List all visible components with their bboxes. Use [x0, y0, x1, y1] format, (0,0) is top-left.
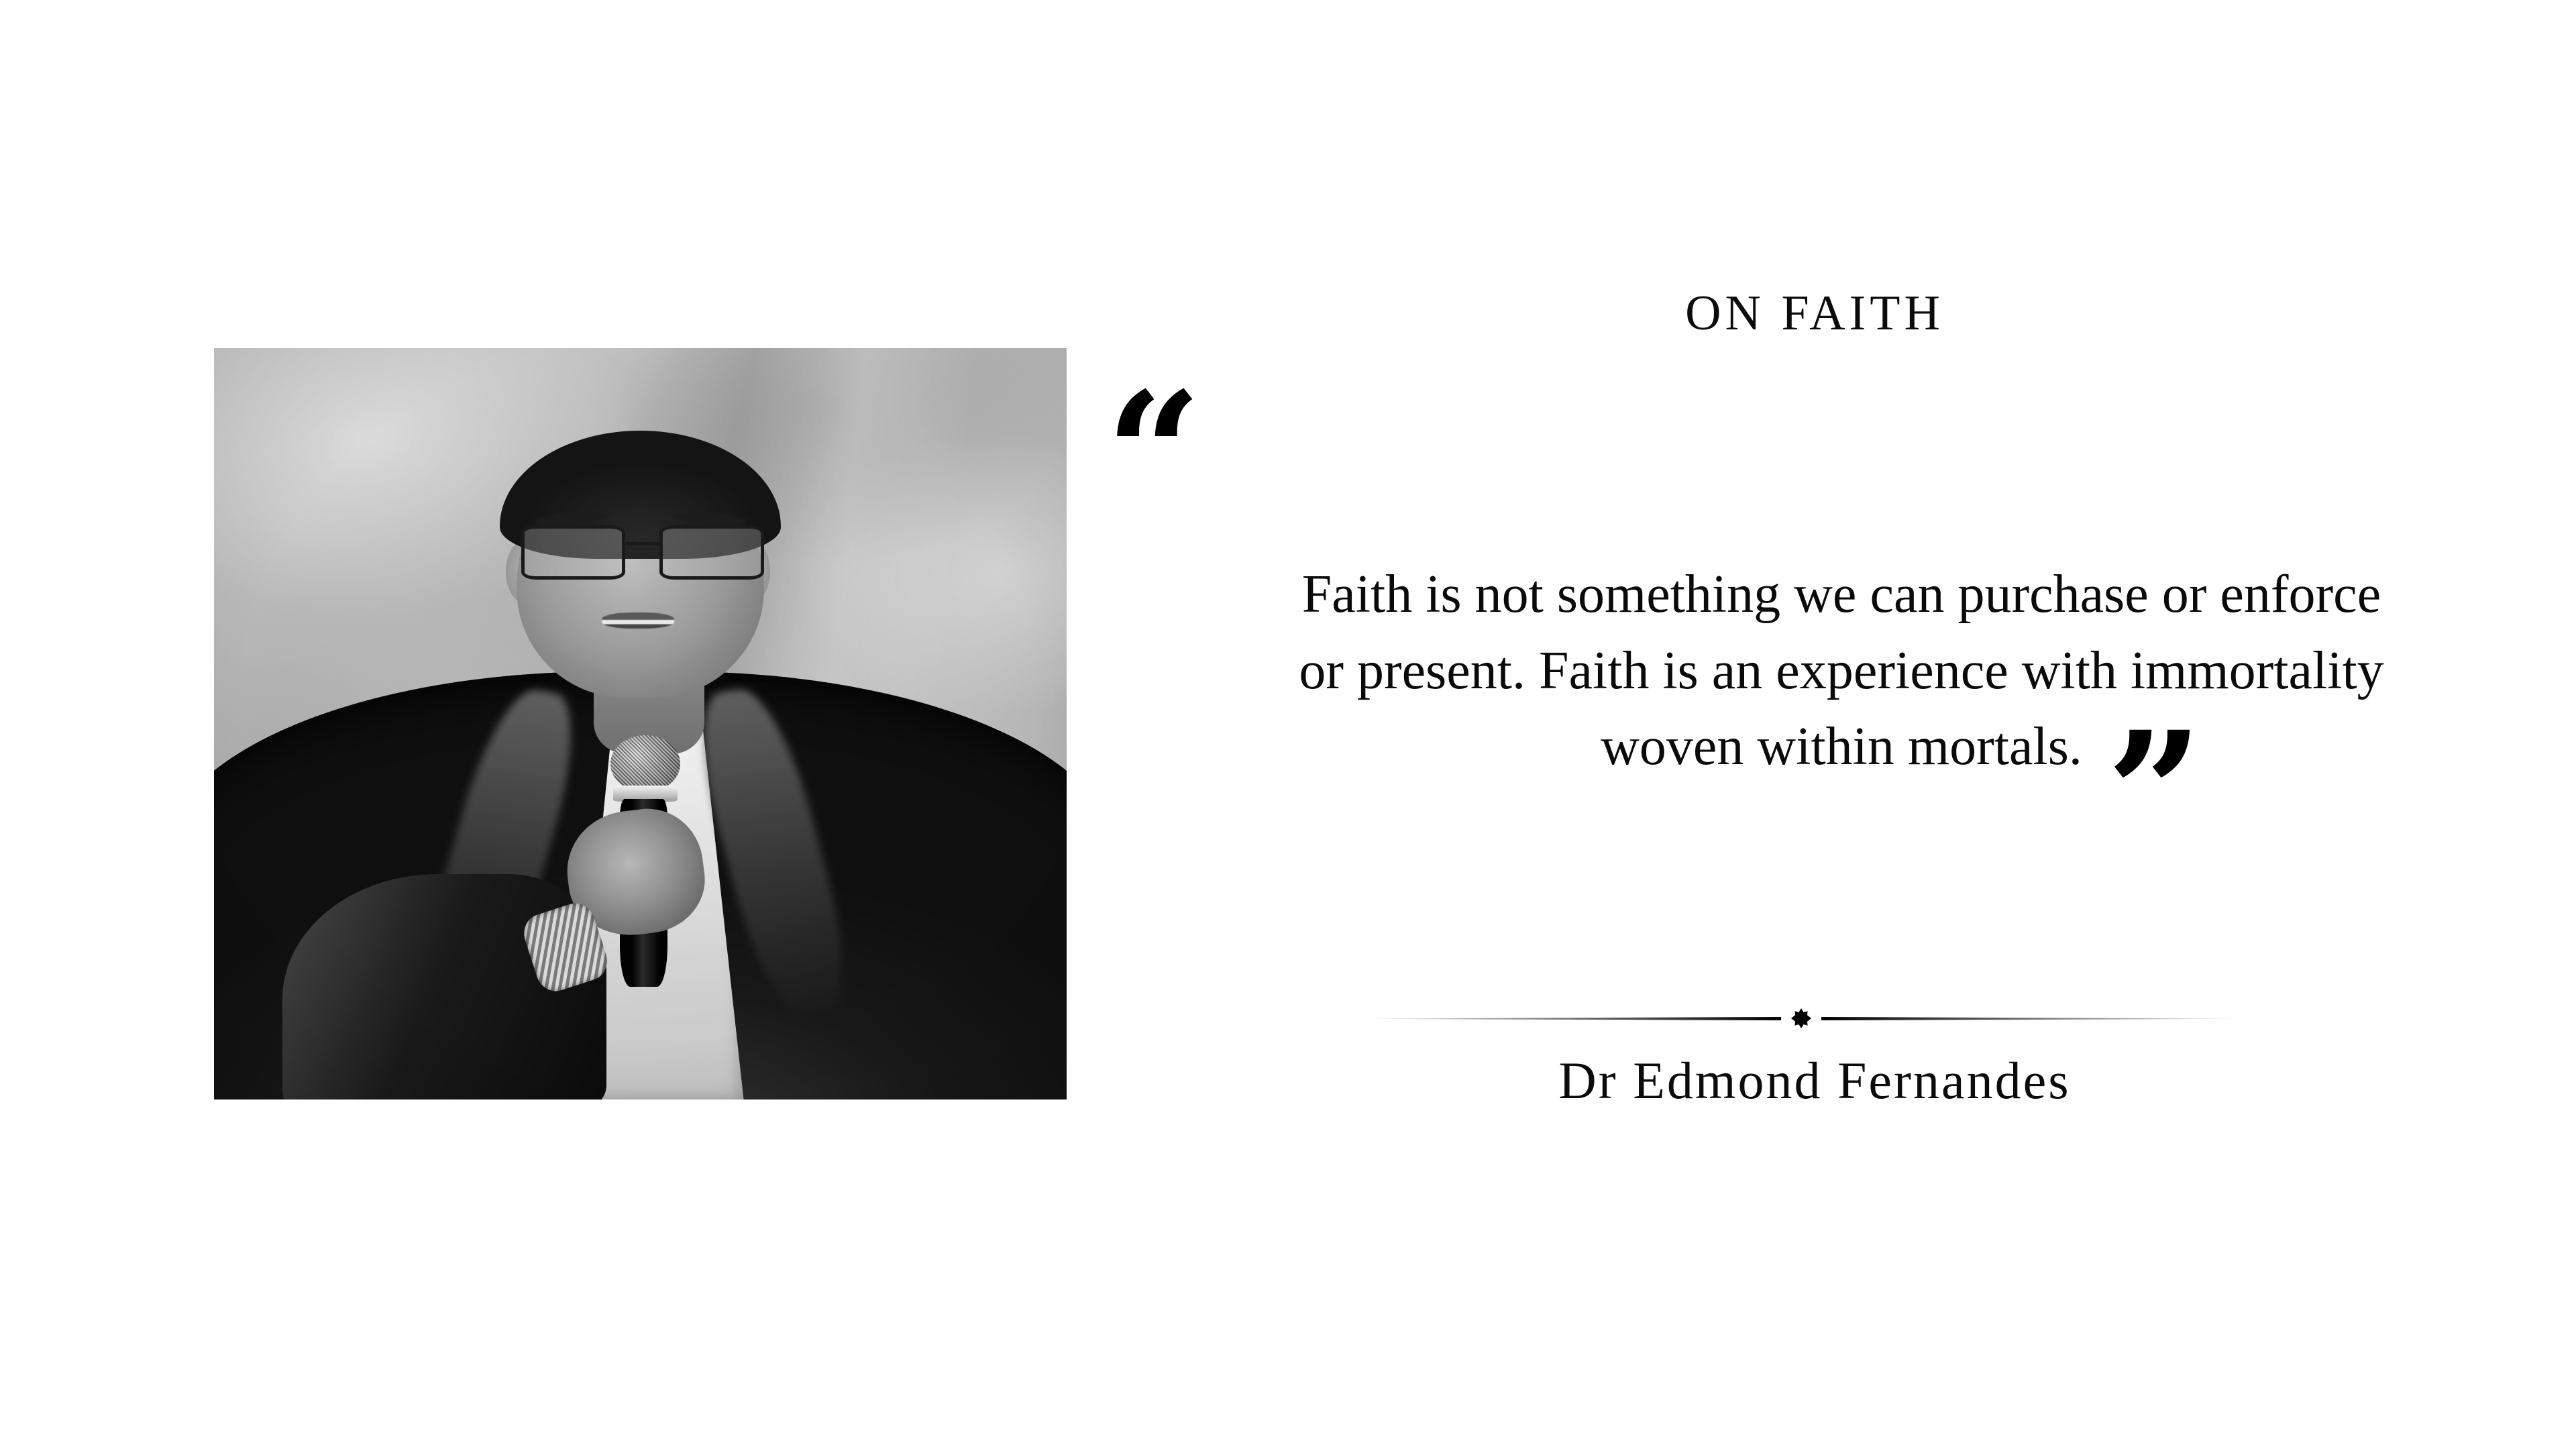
- quote-attribution: Dr Edmond Fernandes: [1167, 1052, 2462, 1110]
- ornamental-divider: [1365, 1005, 2237, 1032]
- star-ornament-icon: [1791, 1008, 1811, 1028]
- quote-text: Faith is not something we can purchase o…: [1194, 557, 2489, 786]
- quote-line: woven within mortals.: [1194, 709, 2489, 786]
- quote-line: Faith is not something we can purchase o…: [1194, 557, 2489, 633]
- speaker-portrait-photo: [214, 348, 1067, 1099]
- eyeglass-lens-right: [659, 525, 764, 580]
- quote-content-column: ON FAITH “ Faith is not something we can…: [1167, 255, 2462, 1194]
- quote-line: or present. Faith is an experience with …: [1194, 633, 2489, 710]
- page-title: ON FAITH: [1167, 288, 2462, 338]
- mouth: [602, 612, 674, 629]
- quote-card-canvas: ON FAITH “ Faith is not something we can…: [0, 0, 2576, 1449]
- opening-quote-mark-icon: “: [1106, 393, 1202, 514]
- closing-quote-mark-icon: ”: [2106, 733, 2203, 853]
- eyeglasses-icon: [521, 525, 764, 580]
- portrait-subject: [214, 348, 1067, 1099]
- eyeglass-lens-left: [521, 525, 626, 580]
- divider-rule-left: [1365, 1017, 1781, 1020]
- eyeglass-bridge: [625, 542, 659, 545]
- microphone-grille: [610, 735, 680, 792]
- divider-rule-right: [1821, 1017, 2237, 1020]
